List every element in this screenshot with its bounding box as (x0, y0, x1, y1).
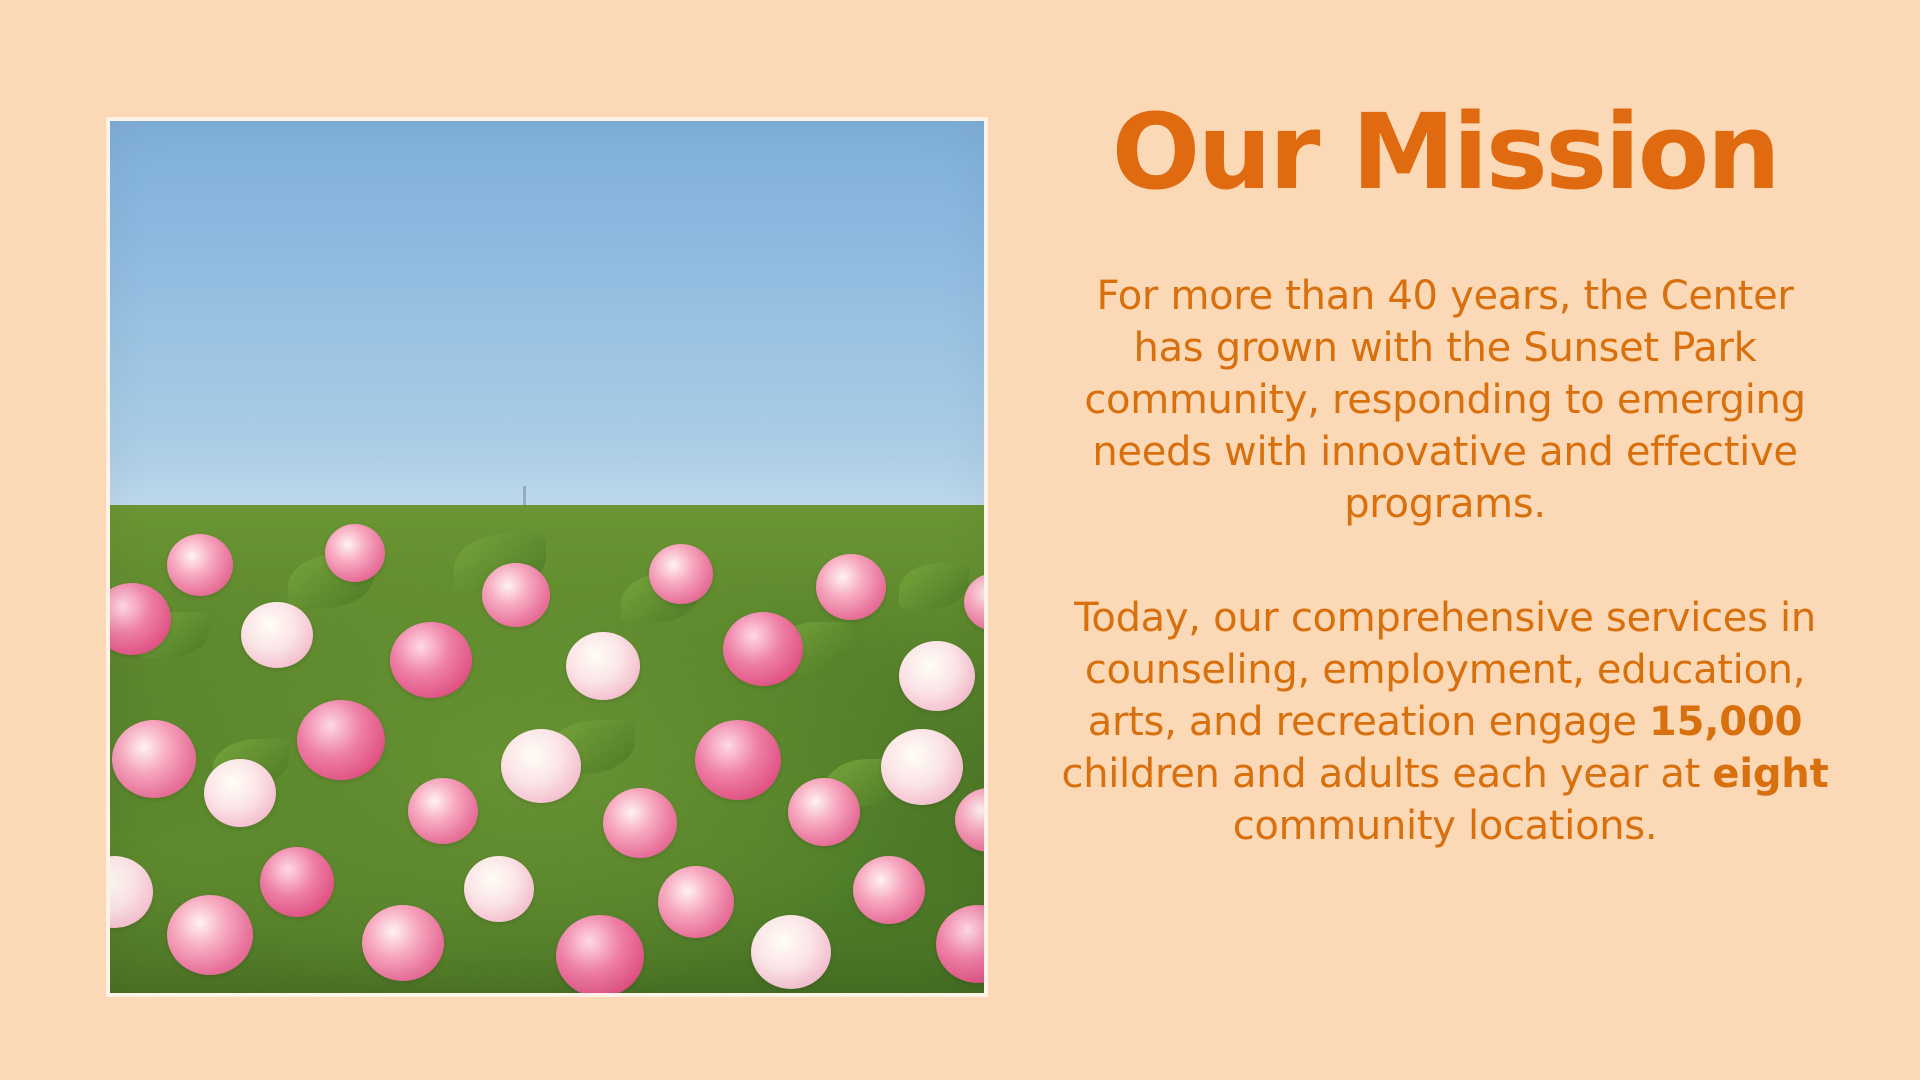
slide-root: Our Mission For more than 40 years, the … (0, 0, 1920, 1080)
paragraph-2-text-3: community locations. (1233, 803, 1658, 849)
mission-photo-frame (107, 118, 987, 996)
mission-paragraph-2: Today, our comprehensive services in cou… (1035, 592, 1855, 852)
mission-photo (110, 121, 984, 993)
stat-location-count: eight (1712, 751, 1828, 797)
mission-paragraph-1: For more than 40 years, the Center has g… (1035, 270, 1855, 530)
paragraph-2-text-2: children and adults each year at (1062, 751, 1713, 797)
rose-bush (110, 505, 984, 993)
stat-people-served: 15,000 (1649, 699, 1802, 745)
page-title: Our Mission (1035, 100, 1855, 204)
mission-text-column: Our Mission For more than 40 years, the … (1035, 100, 1855, 852)
